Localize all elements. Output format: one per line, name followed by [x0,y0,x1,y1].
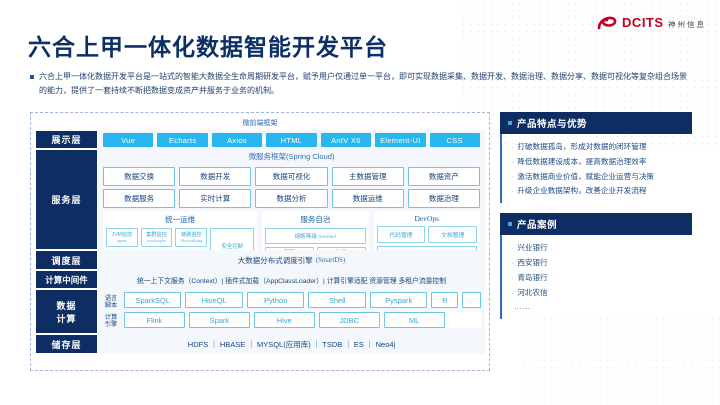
sidebar-heading-cases-text: 产品案例 [517,217,557,231]
tech-chip[interactable]: CSS [430,133,480,147]
sidebar-features-list: ·打破数据孤岛，形成对数据的闭环管理 ·降低数据建设成本，提高数据治理效率 ·激… [500,134,692,203]
page-intro-text: 六合上甲一体化数据开发平台是一站式的智能大数据全生命周期研发平台，赋予用户仅通过… [39,70,690,98]
layer-label-data-compute: 数据 计算 [35,289,98,334]
layer-label-middleware: 计算中间件 [35,270,98,289]
bullet-square-icon [508,222,512,226]
compute-label-line1: 数据 [56,299,76,312]
ops-cell[interactable]: 链路监控 Skywalking [175,228,207,247]
ops-cell[interactable]: JVM监控 agent [106,228,138,247]
layer-schedule: 调度层 大数据分布式调度引擎 (SmartDS) [35,250,485,270]
group-title-ops: 统一运维 [106,213,254,228]
layer-label-schedule: 调度层 [35,250,98,270]
sidebar-block-cases: 产品案例 ·兴业银行 ·西安银行 ·青岛银行 ·河北农信 …… [500,213,692,319]
layer-label-display: 展示层 [35,130,98,149]
compute-engine-item[interactable]: JDBC [319,312,380,328]
compute-language-item[interactable]: SparkSQL [124,292,181,308]
spring-cloud-band: 微服务框架(Spring Cloud) [98,149,485,165]
compute-engine-item[interactable]: ML [384,312,445,328]
bullet-dot-icon: · [511,272,513,286]
group-title-devops: DevOps [377,213,477,226]
list-item: ·激活数据商业价值，赋能企业运营与决策 [511,170,692,185]
ops-cell-en: Skywalking [177,238,205,244]
service-card[interactable]: 数据交换 [103,167,175,186]
layer-service: 服务层 微服务框架(Spring Cloud) 数据交换 数据开发 数据可视化 … [35,149,485,250]
ops-cell-en: agent [108,238,136,244]
storage-band: HDFS ｜ HBASE ｜ MYSQL(应用库) ｜ TSDB ｜ ES ｜ … [98,334,485,354]
compute-label-line2: 计算 [56,312,76,325]
service-card[interactable]: 数据运维 [332,189,404,208]
list-item-text: 青岛银行 [517,271,547,286]
compute-engine-spacer [449,312,481,328]
tech-chip[interactable]: Vue [103,133,153,147]
service-card[interactable]: 数据资产 [408,167,480,186]
ops-cell[interactable]: 集群监控 zookeeper [141,228,173,247]
bullet-dot-icon: · [511,141,513,155]
schedule-engine-cn: 大数据分布式调度引擎 [238,255,313,266]
list-item: ·青岛银行 [511,271,692,286]
compute-language-item[interactable]: HiveQL [185,292,242,308]
compute-engine-row: Flink Spark Hive JDBC ML [124,312,481,328]
compute-side-labels: 语言 脚本 计算 引擎 [102,292,120,331]
list-item: ·西安银行 [511,256,692,271]
list-item-text: 西安银行 [517,256,547,271]
bullet-dot-icon: · [511,257,513,271]
bullet-dot-icon: · [511,171,513,185]
compute-language-item[interactable]: Python [247,292,304,308]
service-card[interactable]: 数据可视化 [255,167,327,186]
sidebar-heading-features: 产品特点与优势 [500,112,692,134]
bullet-dot-icon: · [511,156,513,170]
tech-chip[interactable]: HTML [266,133,316,147]
list-item: ·河北农信 [511,286,692,301]
compute-language-item[interactable]: R [431,292,458,308]
layer-label-service: 服务层 [35,149,98,250]
tech-chip[interactable]: Axios [212,133,262,147]
list-item-text: 河北农信 [517,286,547,301]
list-item-text: 兴业银行 [517,241,547,256]
tech-chip[interactable]: AntV X6 [321,133,371,147]
architecture-diagram: 微前端框架 展示层 Vue Echarts Axios HTML AntV X6… [30,112,490,371]
display-tech-chips: Vue Echarts Axios HTML AntV X6 Element-U… [98,130,485,150]
compute-language-item[interactable]: Pyspark [370,292,427,308]
service-card-row-1: 数据交换 数据开发 数据可视化 主数据管理 数据资产 [103,167,480,186]
service-card[interactable]: 数据治理 [408,189,480,208]
ops-cell-en: zookeeper [143,238,171,244]
bullet-dot-icon: · [511,185,513,199]
sentinel-en: Sentinel [319,234,337,240]
layer-storage: 储存层 HDFS ｜ HBASE ｜ MYSQL(应用库) ｜ TSDB ｜ E… [35,334,485,354]
sidebar-cases-list: ·兴业银行 ·西安银行 ·青岛银行 ·河北农信 …… [500,235,692,319]
middleware-band: 统一上下文服务（Context）| 插件式加载（AppClassLoader）|… [98,270,485,289]
list-item-text: 降低数据建设成本，提高数据治理效率 [517,155,646,170]
compute-engine-item[interactable]: Hive [254,312,315,328]
sidebar: 产品特点与优势 ·打破数据孤岛，形成对数据的闭环管理 ·降低数据建设成本，提高数… [500,112,692,329]
list-item-text: 激活数据商业价值，赋能企业运营与决策 [517,170,654,185]
compute-engine-item[interactable]: Spark [189,312,250,328]
tech-chip[interactable]: Echarts [157,133,207,147]
compute-language-row: SparkSQL HiveQL Python Shell Pyspark R … [124,292,481,308]
group-title-governance: 服务自治 [265,213,365,228]
page-title: 六合上甲一体化数据智能开发平台 [28,28,388,62]
sidebar-block-features: 产品特点与优势 ·打破数据孤岛，形成对数据的闭环管理 ·降低数据建设成本，提高数… [500,112,692,203]
service-card-row-2: 数据服务 实时计算 数据分析 数据运维 数据治理 [103,189,480,208]
tech-chip[interactable]: Element-UI [375,133,425,147]
governance-sentinel-cell[interactable]: 熔断降级 Sentinel [265,228,365,244]
sidebar-heading-cases: 产品案例 [500,213,692,235]
bullet-square-icon [30,75,34,79]
layer-label-storage: 储存层 [35,334,98,354]
compute-language-more[interactable]: … [462,292,481,308]
list-item: ·打破数据孤岛，形成对数据的闭环管理 [511,140,692,155]
service-card[interactable]: 主数据管理 [332,167,404,186]
layer-display: 展示层 Vue Echarts Axios HTML AntV X6 Eleme… [35,130,485,149]
list-item: ·兴业银行 [511,241,692,256]
compute-side-language: 语言 脚本 [102,292,120,312]
brand-logo: DCITS 神州信息 [596,12,706,34]
devops-cell[interactable]: 代码管理 [377,226,426,243]
logo-text-cn: 神州信息 [668,20,706,29]
layer-data-compute: 数据 计算 语言 脚本 计算 引擎 [35,289,485,334]
sentinel-cn: 熔断降级 [295,234,317,240]
devops-cell[interactable]: 文档管理 [428,226,477,243]
service-card[interactable]: 数据分析 [255,189,327,208]
dcits-swirl-icon [596,12,618,34]
layer-middleware: 计算中间件 统一上下文服务（Context）| 插件式加载（AppClassLo… [35,270,485,289]
compute-side-engine: 计算 引擎 [102,312,120,332]
list-item-text: 打破数据孤岛，形成对数据的闭环管理 [517,140,646,155]
service-card[interactable]: 实时计算 [179,189,251,208]
service-card[interactable]: 数据开发 [179,167,251,186]
bullet-dot-icon: · [511,287,513,301]
schedule-engine-en: (SmartDS) [316,257,345,264]
microfrontend-band: 微前端框架 [35,117,485,130]
list-item: ·升级企业数据架构，改善企业开发流程 [511,184,692,199]
list-item-text: 升级企业数据架构，改善企业开发流程 [517,184,646,199]
bullet-dot-icon: · [511,242,513,256]
compute-language-item[interactable]: Shell [308,292,365,308]
logo-text-en: DCITS [622,15,664,30]
bullet-square-icon [508,121,512,125]
schedule-engine-band: 大数据分布式调度引擎 (SmartDS) [98,250,485,270]
list-item: ·降低数据建设成本，提高数据治理效率 [511,155,692,170]
page-intro: 六合上甲一体化数据开发平台是一站式的智能大数据全生命周期研发平台，赋予用户仅通过… [30,70,690,98]
compute-engine-item[interactable]: Flink [124,312,185,328]
sidebar-cases-more: …… [511,300,692,315]
sidebar-heading-features-text: 产品特点与优势 [517,116,587,130]
service-card[interactable]: 数据服务 [103,189,175,208]
